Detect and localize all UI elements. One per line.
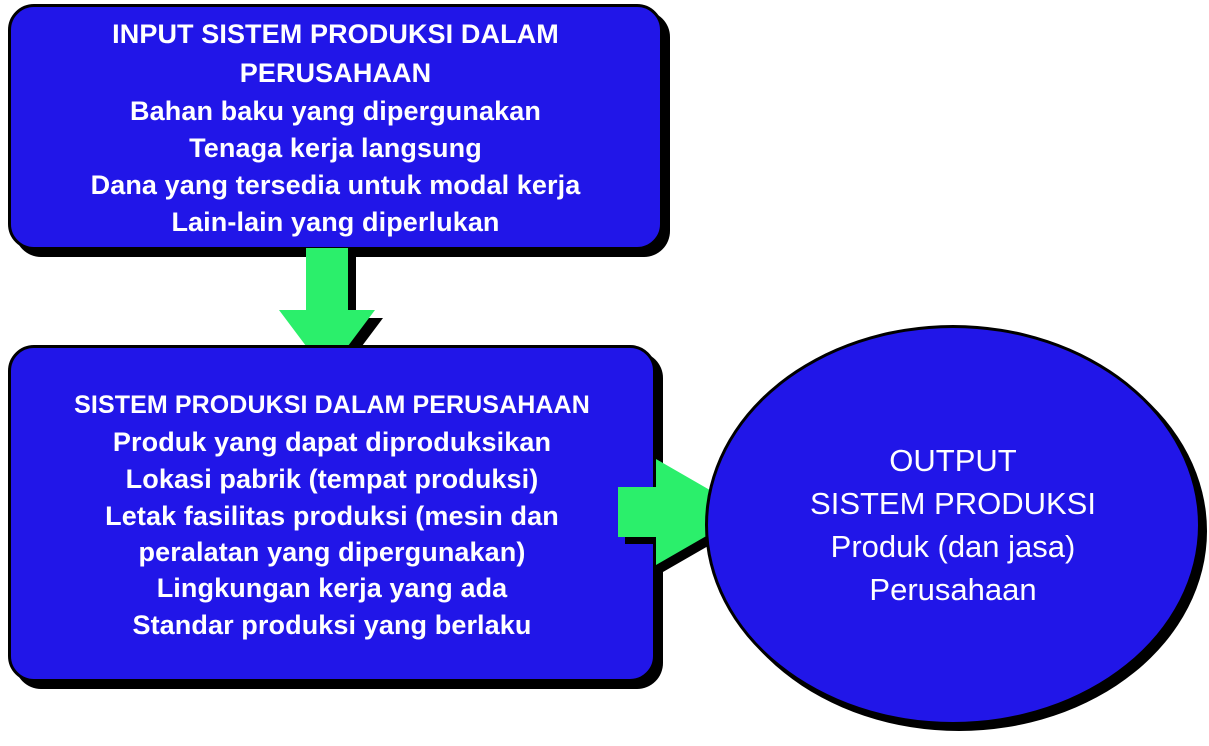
input-box-item-1: Tenaga kerja langsung xyxy=(189,130,482,167)
input-box-item-3: Lain-lain yang diperlukan xyxy=(171,204,499,241)
output-line-3: Perusahaan xyxy=(869,568,1036,611)
input-box-item-2: Dana yang tersedia untuk modal kerja xyxy=(91,167,581,204)
system-box-item-2: Letak fasilitas produksi (mesin dan pera… xyxy=(72,498,592,570)
output-ellipse[interactable]: OUTPUT SISTEM PRODUKSI Produk (dan jasa)… xyxy=(705,325,1201,725)
input-box-heading: INPUT SISTEM PRODUKSI DALAM PERUSAHAAN xyxy=(101,15,571,93)
system-process-box[interactable]: SISTEM PRODUKSI DALAM PERUSAHAAN Produk … xyxy=(8,345,656,682)
system-box-heading: SISTEM PRODUKSI DALAM PERUSAHAAN xyxy=(74,386,590,424)
diagram-canvas: INPUT SISTEM PRODUKSI DALAM PERUSAHAAN B… xyxy=(0,0,1209,746)
system-box-item-4: Standar produksi yang berlaku xyxy=(132,607,531,644)
system-box-item-0: Produk yang dapat diproduksikan xyxy=(113,424,551,461)
output-line-1: SISTEM PRODUKSI xyxy=(810,482,1096,525)
output-line-2: Produk (dan jasa) xyxy=(831,525,1076,568)
input-box-item-0: Bahan baku yang dipergunakan xyxy=(130,93,541,130)
system-box-item-1: Lokasi pabrik (tempat produksi) xyxy=(126,461,539,498)
system-box-item-3: Lingkungan kerja yang ada xyxy=(157,570,508,607)
output-line-0: OUTPUT xyxy=(889,439,1016,482)
input-process-box[interactable]: INPUT SISTEM PRODUKSI DALAM PERUSAHAAN B… xyxy=(8,4,663,250)
